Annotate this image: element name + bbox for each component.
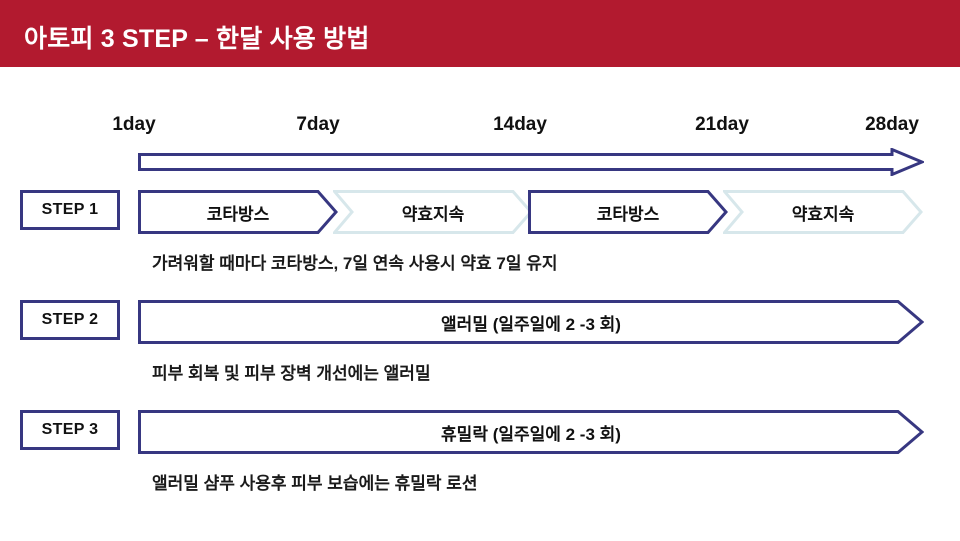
segment-kotabance-2: 코타방스 bbox=[528, 190, 728, 234]
page-title: 아토피 3 STEP – 한달 사용 방법 bbox=[24, 19, 370, 55]
step-badge-2: STEP 2 bbox=[20, 300, 120, 340]
segment-drug-effect-1: 약효지속 bbox=[333, 190, 533, 234]
day-label-1day: 1day bbox=[112, 114, 155, 136]
segment-kotabance-1: 코타방스 bbox=[138, 190, 338, 234]
step-bar-3: 휴밀락 (일주일에 2 -3 회) bbox=[138, 410, 924, 454]
day-label-7day: 7day bbox=[296, 114, 339, 136]
step-note-2: 피부 회복 및 피부 장벽 개선에는 앨러밀 bbox=[152, 359, 431, 384]
step-note-3: 앨러밀 샴푸 사용후 피부 보습에는 휴밀락 로션 bbox=[152, 469, 478, 494]
day-label-28day: 28day bbox=[865, 114, 919, 136]
step-note-1: 가려워할 때마다 코타방스, 7일 연속 사용시 약효 7일 유지 bbox=[152, 249, 558, 274]
step-badge-3: STEP 3 bbox=[20, 410, 120, 450]
title-banner: 아토피 3 STEP – 한달 사용 방법 bbox=[0, 0, 960, 67]
segment-drug-effect-2: 약효지속 bbox=[723, 190, 923, 234]
slide-canvas: 아토피 3 STEP – 한달 사용 방법 1day 7day 14day 21… bbox=[0, 0, 960, 541]
step-bar-2: 앨러밀 (일주일에 2 -3 회) bbox=[138, 300, 924, 344]
day-label-14day: 14day bbox=[493, 114, 547, 136]
timeline-arrow bbox=[138, 148, 924, 176]
step-badge-1: STEP 1 bbox=[20, 190, 120, 230]
day-label-21day: 21day bbox=[695, 114, 749, 136]
